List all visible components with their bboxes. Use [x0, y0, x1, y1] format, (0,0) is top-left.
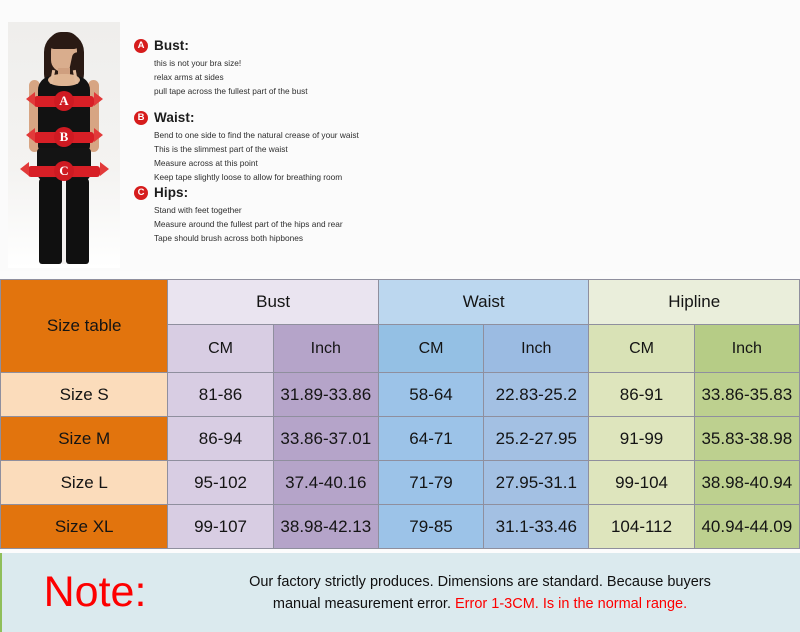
cell-bust-cm: 86-94: [168, 417, 273, 461]
instruction-line: Bend to one side to find the natural cre…: [154, 128, 359, 142]
instruction-lines-hips: Stand with feet together Measure around …: [134, 203, 343, 245]
cell-hipline-inch: 38.98-40.94: [694, 461, 799, 505]
instruction-block-bust: A Bust: this is not your bra size! relax…: [134, 38, 308, 98]
instruction-block-hips: C Hips: Stand with feet together Measure…: [134, 185, 343, 245]
waist-band-label-b: B: [54, 127, 74, 147]
instruction-line: Measure across at this point: [154, 156, 359, 170]
instruction-title-bust: Bust:: [154, 38, 189, 53]
instruction-line: Keep tape slightly loose to allow for br…: [154, 170, 359, 184]
cell-waist-inch: 22.83-25.2: [484, 373, 589, 417]
column-group-hipline: Hipline: [589, 280, 800, 325]
cell-waist-inch: 31.1-33.46: [484, 505, 589, 549]
instruction-block-waist: B Waist: Bend to one side to find the na…: [134, 110, 359, 184]
cell-bust-inch: 38.98-42.13: [273, 505, 378, 549]
size-table-corner-label: Size table: [1, 280, 168, 373]
cell-hipline-cm: 99-104: [589, 461, 694, 505]
cell-bust-cm: 95-102: [168, 461, 273, 505]
row-size-label: Size S: [1, 373, 168, 417]
cell-waist-cm: 71-79: [378, 461, 483, 505]
table-row: Size L 95-102 37.4-40.16 71-79 27.95-31.…: [1, 461, 800, 505]
instruction-lines-bust: this is not your bra size! relax arms at…: [134, 56, 308, 98]
instruction-heading-bust: A Bust:: [134, 38, 308, 53]
instruction-line: Tape should brush across both hipbones: [154, 231, 343, 245]
note-line-1: Our factory strictly produces. Dimension…: [249, 574, 711, 590]
cell-hipline-inch: 33.86-35.83: [694, 373, 799, 417]
column-header-hipline-inch: Inch: [694, 325, 799, 373]
column-header-bust-cm: CM: [168, 325, 273, 373]
size-chart-page: A B C A Bust: this is not your bra size!…: [0, 0, 800, 632]
cell-bust-cm: 99-107: [168, 505, 273, 549]
measurement-instructions-panel: A B C A Bust: this is not your bra size!…: [0, 0, 800, 271]
hips-arrow-right-icon: [100, 162, 109, 176]
cell-bust-inch: 37.4-40.16: [273, 461, 378, 505]
row-size-label: Size L: [1, 461, 168, 505]
instruction-line: this is not your bra size!: [154, 56, 308, 70]
size-table: Size table Bust Waist Hipline CM Inch CM…: [0, 279, 800, 549]
instruction-line: relax arms at sides: [154, 70, 308, 84]
cell-hipline-cm: 104-112: [589, 505, 694, 549]
table-row: Size M 86-94 33.86-37.01 64-71 25.2-27.9…: [1, 417, 800, 461]
note-text: Our factory strictly produces. Dimension…: [188, 571, 800, 615]
instruction-heading-waist: B Waist:: [134, 110, 359, 125]
instruction-title-waist: Waist:: [154, 110, 195, 125]
instruction-title-hips: Hips:: [154, 185, 188, 200]
waist-arrow-left-icon: [26, 128, 35, 142]
column-header-bust-inch: Inch: [273, 325, 378, 373]
size-table-header: Size table Bust Waist Hipline CM Inch CM…: [1, 280, 800, 373]
bust-band-label-a: A: [54, 91, 74, 111]
cell-hipline-inch: 35.83-38.98: [694, 417, 799, 461]
column-header-waist-inch: Inch: [484, 325, 589, 373]
hips-arrow-left-icon: [20, 162, 29, 176]
instruction-heading-hips: C Hips:: [134, 185, 343, 200]
cell-waist-inch: 27.95-31.1: [484, 461, 589, 505]
cell-waist-cm: 79-85: [378, 505, 483, 549]
letter-badge-a-icon: A: [134, 39, 148, 53]
row-size-label: Size M: [1, 417, 168, 461]
column-group-bust: Bust: [168, 280, 379, 325]
note-label: Note:: [2, 571, 188, 614]
column-header-waist-cm: CM: [378, 325, 483, 373]
instruction-line: pull tape across the fullest part of the…: [154, 84, 308, 98]
note-error-tolerance: Error 1-3CM. Is in the normal range.: [455, 596, 687, 612]
column-group-waist: Waist: [378, 280, 589, 325]
hips-band-label-c: C: [54, 161, 74, 181]
cell-hipline-cm: 91-99: [589, 417, 694, 461]
model-left-leg: [39, 178, 62, 264]
letter-badge-c-icon: C: [134, 186, 148, 200]
waist-arrow-right-icon: [94, 128, 103, 142]
size-table-body: Size S 81-86 31.89-33.86 58-64 22.83-25.…: [1, 373, 800, 549]
cell-bust-inch: 33.86-37.01: [273, 417, 378, 461]
cell-bust-cm: 81-86: [168, 373, 273, 417]
cell-waist-inch: 25.2-27.95: [484, 417, 589, 461]
table-row: Size XL 99-107 38.98-42.13 79-85 31.1-33…: [1, 505, 800, 549]
row-size-label: Size XL: [1, 505, 168, 549]
instruction-line: This is the slimmest part of the waist: [154, 142, 359, 156]
instruction-line: Measure around the fullest part of the h…: [154, 217, 343, 231]
note-line-2-plain: manual measurement error.: [273, 596, 455, 612]
cell-hipline-cm: 86-91: [589, 373, 694, 417]
table-row: Size S 81-86 31.89-33.86 58-64 22.83-25.…: [1, 373, 800, 417]
cell-waist-cm: 64-71: [378, 417, 483, 461]
table-header-row-groups: Size table Bust Waist Hipline: [1, 280, 800, 325]
note-bar: Note: Our factory strictly produces. Dim…: [0, 553, 800, 632]
instruction-lines-waist: Bend to one side to find the natural cre…: [134, 128, 359, 184]
model-leg-gap: [62, 178, 66, 264]
model-hair-front: [49, 32, 79, 49]
column-header-hipline-cm: CM: [589, 325, 694, 373]
cell-waist-cm: 58-64: [378, 373, 483, 417]
letter-badge-b-icon: B: [134, 111, 148, 125]
bust-arrow-left-icon: [26, 92, 35, 106]
instruction-line: Stand with feet together: [154, 203, 343, 217]
model-right-leg: [66, 178, 89, 264]
cell-bust-inch: 31.89-33.86: [273, 373, 378, 417]
model-photo: A B C: [8, 22, 120, 268]
cell-hipline-inch: 40.94-44.09: [694, 505, 799, 549]
bust-arrow-right-icon: [94, 92, 103, 106]
